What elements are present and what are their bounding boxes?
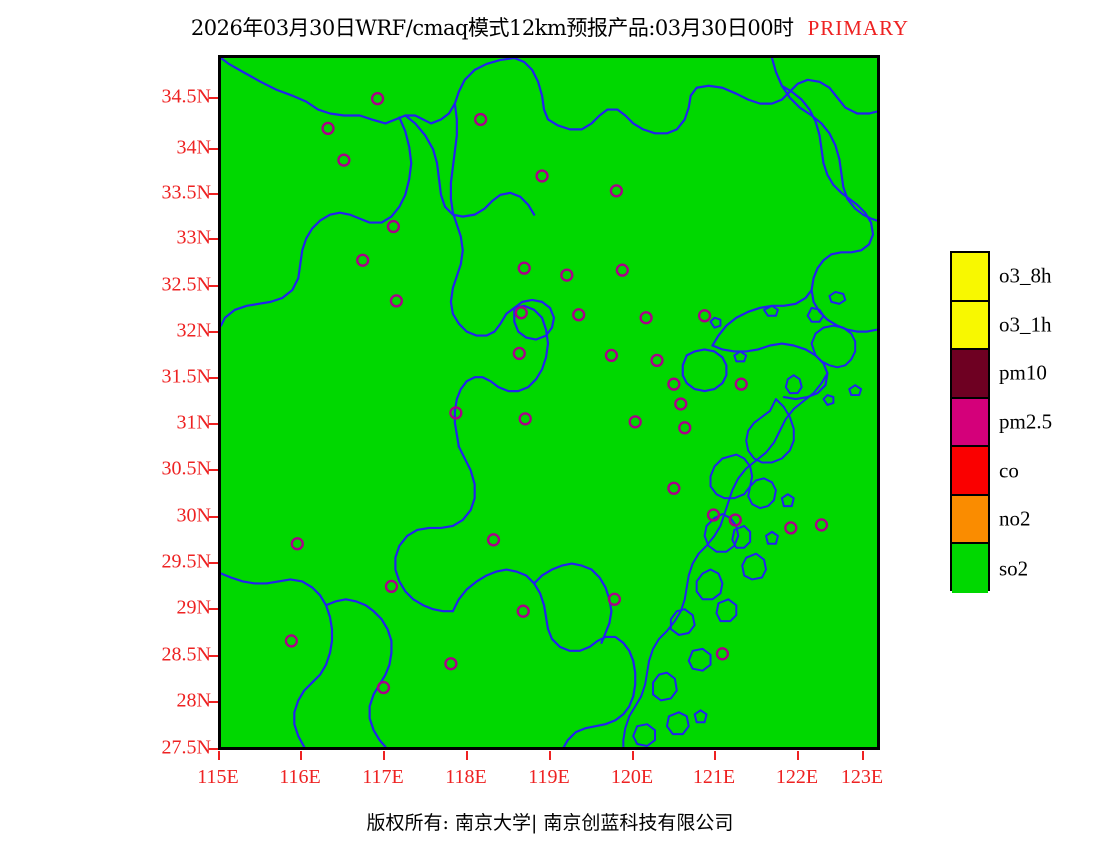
y-tick-label: 30.5N — [162, 458, 211, 481]
legend-label: o3_1h — [999, 312, 1052, 337]
x-tick-label: 122E — [776, 766, 818, 789]
y-tick-label: 34.5N — [162, 86, 211, 109]
y-tick-label: 33N — [177, 227, 211, 250]
x-axis-tick — [300, 751, 302, 760]
y-axis-tick — [209, 655, 218, 657]
y-tick-label: 33.5N — [162, 182, 211, 205]
y-axis-tick — [209, 562, 218, 564]
legend-label: o3_8h — [999, 264, 1052, 289]
x-tick-label: 115E — [197, 766, 238, 789]
x-axis-tick — [383, 751, 385, 760]
x-axis-tick — [714, 751, 716, 760]
y-tick-label: 29.5N — [162, 551, 211, 574]
legend-swatch-no2[interactable]: no2 — [952, 496, 988, 545]
x-axis-tick — [632, 751, 634, 760]
forecast-map-page: 2026年03月30日WRF/cmaq模式12km预报产品:03月30日00时P… — [0, 0, 1100, 850]
page-title-text: 2026年03月30日WRF/cmaq模式12km预报产品:03月30日00时 — [191, 16, 794, 40]
y-axis-tick — [209, 97, 218, 99]
x-tick-label: 123E — [841, 766, 883, 789]
legend-label: so2 — [999, 556, 1028, 581]
legend-swatch-pm25[interactable]: pm2.5 — [952, 399, 988, 448]
legend-label: pm10 — [999, 361, 1047, 386]
y-axis-tick — [209, 377, 218, 379]
legend-swatch-co[interactable]: co — [952, 447, 988, 496]
y-tick-label: 32N — [177, 320, 211, 343]
y-axis-tick — [209, 148, 218, 150]
y-axis-tick — [209, 516, 218, 518]
y-tick-label: 28N — [177, 690, 211, 713]
legend-label: co — [999, 458, 1019, 483]
y-tick-label: 31N — [177, 412, 211, 435]
legend-swatch-pm10[interactable]: pm10 — [952, 350, 988, 399]
y-tick-label: 30N — [177, 505, 211, 528]
y-tick-label: 32.5N — [162, 274, 211, 297]
map-plot-area[interactable] — [218, 55, 880, 750]
map-canvas — [221, 58, 877, 747]
x-axis-tick — [218, 751, 220, 760]
legend-swatch-o3-8h[interactable]: o3_8h — [952, 253, 988, 302]
x-axis-tick — [549, 751, 551, 760]
y-axis-tick — [209, 608, 218, 610]
pollutant-legend: o3_8h o3_1h pm10 pm2.5 co no2 so2 — [950, 251, 990, 591]
x-axis-tick — [862, 751, 864, 760]
y-axis-tick — [209, 423, 218, 425]
y-axis-tick — [209, 331, 218, 333]
legend-swatch-o3-1h[interactable]: o3_1h — [952, 302, 988, 351]
y-axis-tick — [209, 701, 218, 703]
y-axis-tick — [209, 285, 218, 287]
x-tick-label: 116E — [279, 766, 320, 789]
y-axis-tick — [209, 469, 218, 471]
copyright-footer: 版权所有: 南京大学| 南京创蓝科技有限公司 — [0, 808, 1100, 835]
y-axis-tick — [209, 748, 218, 750]
legend-swatch-so2[interactable]: so2 — [952, 544, 988, 593]
x-tick-label: 117E — [362, 766, 403, 789]
x-tick-label: 120E — [611, 766, 653, 789]
y-axis-tick — [209, 193, 218, 195]
y-tick-label: 29N — [177, 597, 211, 620]
y-axis-tick — [209, 238, 218, 240]
primary-pollutant-tag: PRIMARY — [808, 16, 910, 40]
legend-label: no2 — [999, 507, 1031, 532]
y-tick-label: 31.5N — [162, 366, 211, 389]
y-tick-label: 34N — [177, 137, 211, 160]
x-axis-tick — [466, 751, 468, 760]
y-tick-label: 27.5N — [162, 737, 211, 760]
legend-label: pm2.5 — [999, 409, 1052, 434]
y-tick-label: 28.5N — [162, 644, 211, 667]
x-tick-label: 121E — [693, 766, 735, 789]
x-tick-label: 119E — [528, 766, 569, 789]
x-tick-label: 118E — [445, 766, 486, 789]
x-axis-tick — [797, 751, 799, 760]
page-title: 2026年03月30日WRF/cmaq模式12km预报产品:03月30日00时P… — [0, 12, 1100, 42]
